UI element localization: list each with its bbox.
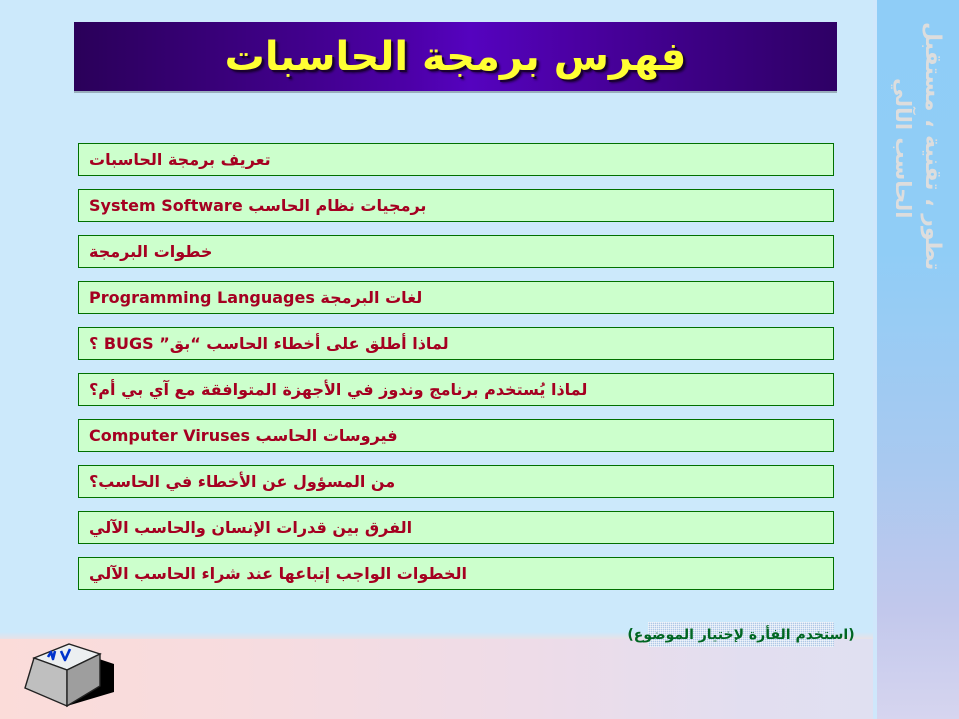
index-item-label: تعريف برمجة الحاسبات — [89, 152, 271, 168]
index-item-label: الخطوات الواجب إتباعها عند شراء الحاسب ا… — [89, 566, 467, 582]
index-item-label: لماذا أطلق على أخطاء الحاسب “بق” BUGS ؟ — [89, 336, 449, 352]
index-item-10[interactable]: الخطوات الواجب إتباعها عند شراء الحاسب ا… — [78, 557, 834, 590]
index-item-7[interactable]: فيروسات الحاسب Computer Viruses — [78, 419, 834, 452]
index-item-3[interactable]: خطوات البرمجة — [78, 235, 834, 268]
right-decorative-band: تطور ، تقنية ، مستقبل الحاسب الآلي — [877, 0, 959, 719]
index-item-6[interactable]: لماذا يُستخدم برنامج وندوز في الأجهزة ال… — [78, 373, 834, 406]
index-item-4[interactable]: لغات البرمجة Programming Languages — [78, 281, 834, 314]
index-list: تعريف برمجة الحاسبات برمجيات نظام الحاسب… — [78, 143, 834, 603]
index-item-5[interactable]: لماذا أطلق على أخطاء الحاسب “بق” BUGS ؟ — [78, 327, 834, 360]
slide-canvas: تطور ، تقنية ، مستقبل الحاسب الآلي فهرس … — [0, 0, 959, 719]
sidebar-vertical-line1: تطور ، تقنية ، مستقبل — [920, 22, 945, 270]
keycap-icon — [22, 626, 152, 712]
index-item-label: الفرق بين قدرات الإنسان والحاسب الآلي — [89, 520, 412, 536]
footer-hint-box: (استخدم الفأرة لإختيار الموضوع) — [648, 622, 834, 647]
vertical-text-group: تطور ، تقنية ، مستقبل الحاسب الآلي — [877, 0, 959, 340]
index-item-label: لماذا يُستخدم برنامج وندوز في الأجهزة ال… — [89, 382, 587, 398]
footer-hint-label: (استخدم الفأرة لإختيار الموضوع) — [627, 628, 854, 642]
index-item-label: فيروسات الحاسب Computer Viruses — [89, 428, 398, 444]
page-title: فهرس برمجة الحاسبات — [225, 37, 687, 77]
index-item-1[interactable]: تعريف برمجة الحاسبات — [78, 143, 834, 176]
index-item-9[interactable]: الفرق بين قدرات الإنسان والحاسب الآلي — [78, 511, 834, 544]
title-banner: فهرس برمجة الحاسبات — [74, 22, 837, 91]
index-item-label: من المسؤول عن الأخطاء في الحاسب؟ — [89, 474, 395, 490]
index-item-label: برمجيات نظام الحاسب System Software — [89, 198, 426, 214]
index-item-label: لغات البرمجة Programming Languages — [89, 290, 422, 306]
index-item-label: خطوات البرمجة — [89, 244, 212, 260]
index-item-2[interactable]: برمجيات نظام الحاسب System Software — [78, 189, 834, 222]
sidebar-vertical-line2: الحاسب الآلي — [891, 78, 915, 218]
index-item-8[interactable]: من المسؤول عن الأخطاء في الحاسب؟ — [78, 465, 834, 498]
